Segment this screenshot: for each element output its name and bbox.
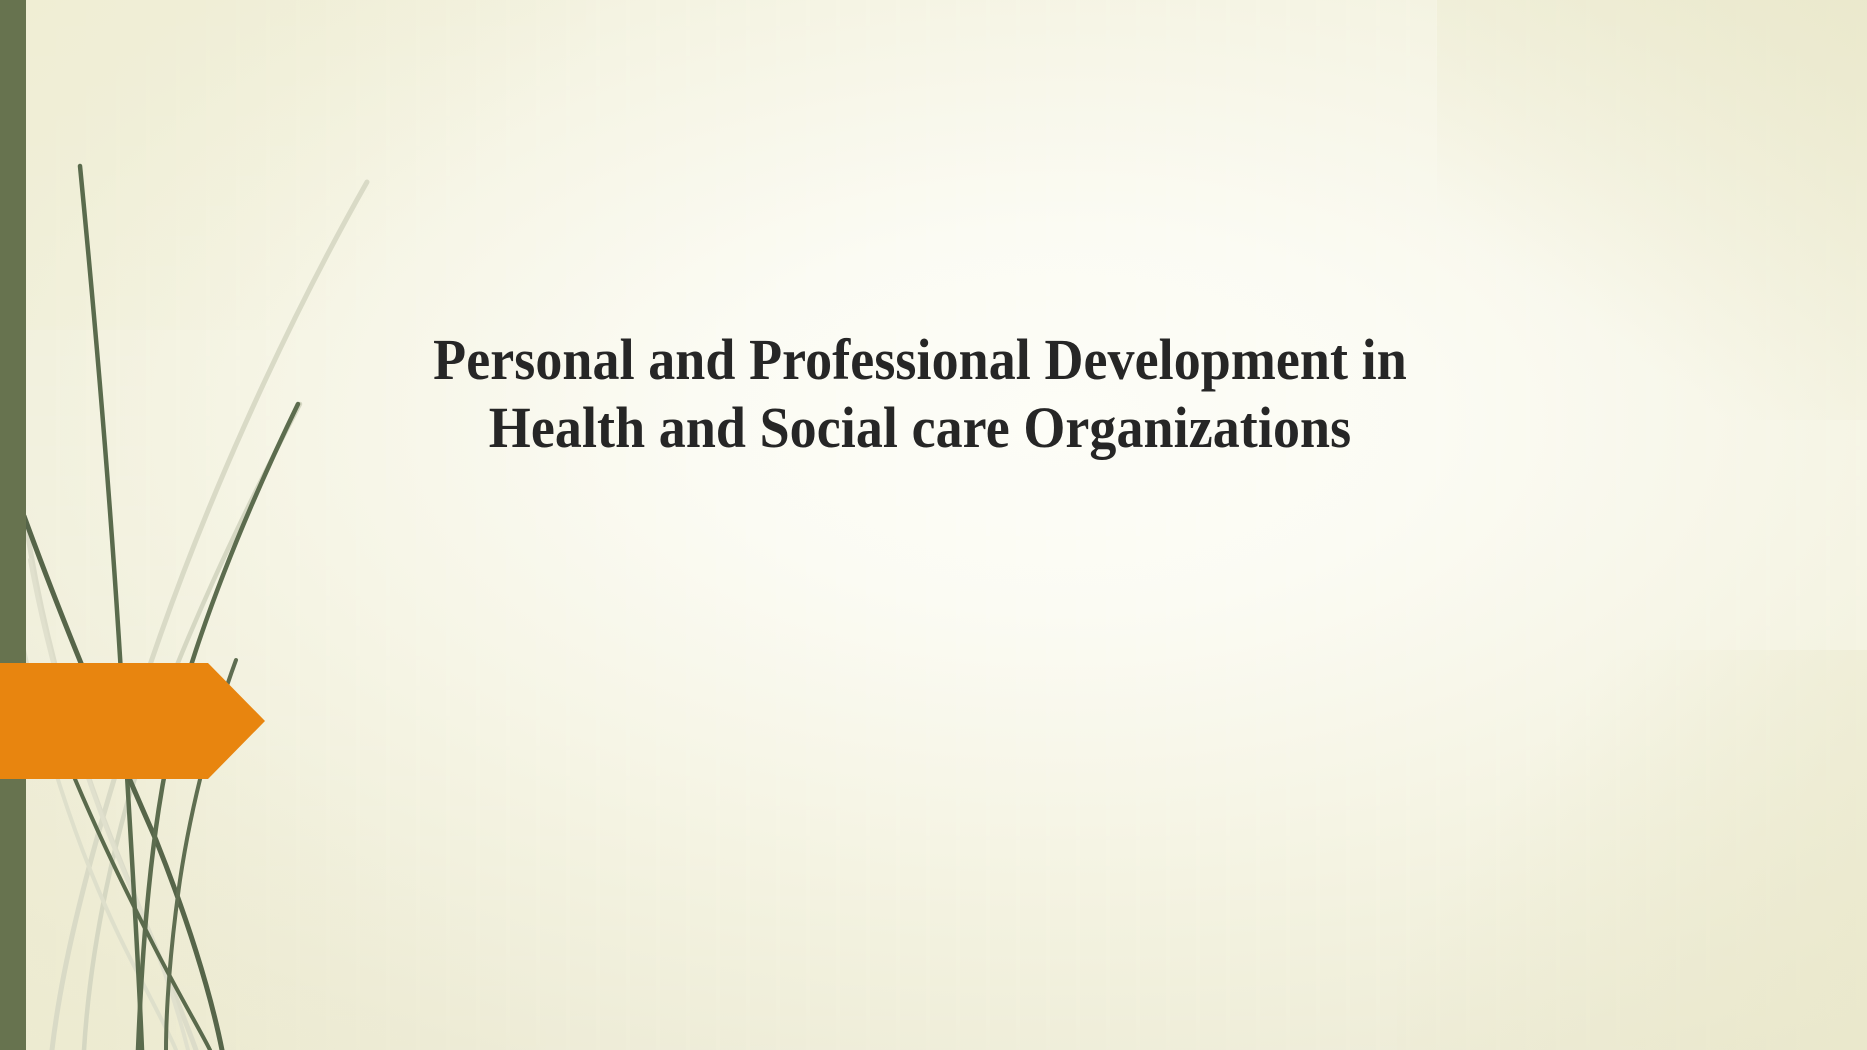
title-line-1: Personal and Professional Development in bbox=[371, 326, 1468, 394]
background-radial-glow bbox=[0, 0, 1867, 1050]
slide-title: Personal and Professional Development in… bbox=[330, 326, 1510, 463]
left-accent-bar bbox=[0, 0, 26, 1050]
orange-chevron-banner bbox=[0, 662, 266, 780]
chevron-shape bbox=[0, 663, 265, 779]
slide-canvas: Personal and Professional Development in… bbox=[0, 0, 1867, 1050]
title-line-2: Health and Social care Organizations bbox=[371, 394, 1468, 462]
